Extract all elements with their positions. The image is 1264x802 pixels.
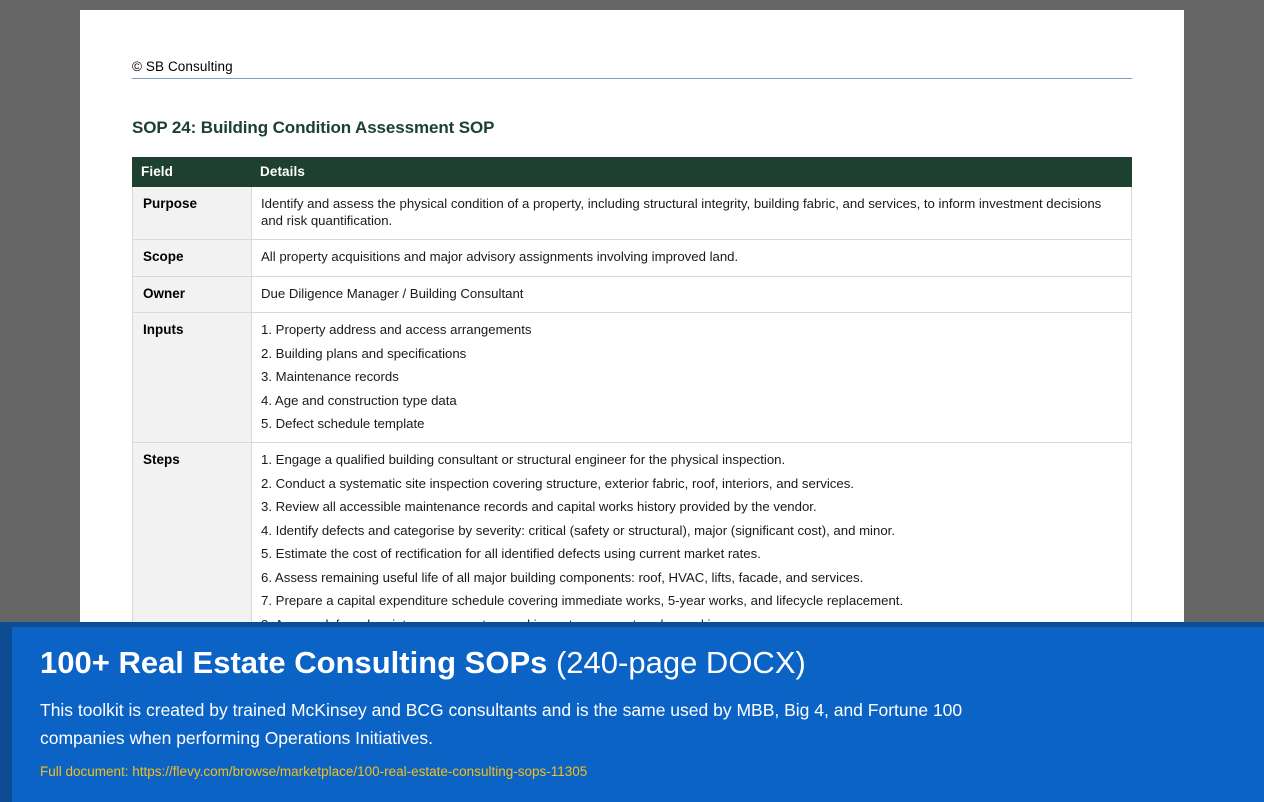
row-details-cell: 1. Property address and access arrangeme…	[252, 313, 1132, 443]
list-item: 4. Age and construction type data	[261, 393, 1123, 409]
detail-paragraph: Due Diligence Manager / Building Consult…	[261, 286, 1123, 303]
table-row: PurposeIdentify and assess the physical …	[133, 187, 1132, 240]
table-header: Field Details	[133, 158, 1132, 187]
list-item: 2. Building plans and specifications	[261, 346, 1123, 362]
row-details-cell: All property acquisitions and major advi…	[252, 240, 1132, 277]
page-title: SOP 24: Building Condition Assessment SO…	[132, 118, 1132, 138]
column-header-field: Field	[133, 158, 252, 187]
column-header-details: Details	[252, 158, 1132, 187]
list-item: 7. Prepare a capital expenditure schedul…	[261, 593, 1123, 609]
list-item: 3. Maintenance records	[261, 369, 1123, 385]
promo-title-format: (240-page DOCX)	[547, 645, 805, 680]
detail-list: 1. Engage a qualified building consultan…	[261, 452, 1123, 633]
promo-document-link[interactable]: Full document: https://flevy.com/browse/…	[40, 763, 1014, 780]
row-details-cell: Due Diligence Manager / Building Consult…	[252, 276, 1132, 313]
promo-title: 100+ Real Estate Consulting SOPs (240-pa…	[40, 644, 1014, 682]
promo-banner: 100+ Real Estate Consulting SOPs (240-pa…	[0, 622, 1264, 802]
running-header: © SB Consulting	[132, 58, 1132, 79]
list-item: 6. Assess remaining useful life of all m…	[261, 570, 1123, 586]
promo-content: 100+ Real Estate Consulting SOPs (240-pa…	[40, 644, 1014, 780]
list-item: 2. Conduct a systematic site inspection …	[261, 476, 1123, 492]
detail-paragraph: All property acquisitions and major advi…	[261, 249, 1123, 266]
row-details-cell: Identify and assess the physical conditi…	[252, 187, 1132, 240]
row-details-cell: 1. Engage a qualified building consultan…	[252, 443, 1132, 644]
row-field-label: Steps	[133, 443, 252, 644]
table-row: Steps1. Engage a qualified building cons…	[133, 443, 1132, 644]
table-row: Inputs1. Property address and access arr…	[133, 313, 1132, 443]
row-field-label: Purpose	[133, 187, 252, 240]
table-row: OwnerDue Diligence Manager / Building Co…	[133, 276, 1132, 313]
promo-title-main: 100+ Real Estate Consulting SOPs	[40, 645, 547, 680]
banner-left-accent	[0, 627, 12, 802]
row-field-label: Scope	[133, 240, 252, 277]
list-item: 1. Engage a qualified building consultan…	[261, 452, 1123, 468]
list-item: 4. Identify defects and categorise by se…	[261, 523, 1123, 539]
page-content: © SB Consulting SOP 24: Building Conditi…	[132, 58, 1132, 644]
list-item: 3. Review all accessible maintenance rec…	[261, 499, 1123, 515]
table-row: ScopeAll property acquisitions and major…	[133, 240, 1132, 277]
promo-description: This toolkit is created by trained McKin…	[40, 696, 1014, 752]
list-item: 5. Estimate the cost of rectification fo…	[261, 546, 1123, 562]
list-item: 5. Defect schedule template	[261, 416, 1123, 432]
table-body: PurposeIdentify and assess the physical …	[133, 187, 1132, 644]
sop-details-table: Field Details PurposeIdentify and assess…	[132, 157, 1132, 644]
detail-paragraph: Identify and assess the physical conditi…	[261, 196, 1123, 229]
detail-list: 1. Property address and access arrangeme…	[261, 322, 1123, 432]
table-header-row: Field Details	[133, 158, 1132, 187]
row-field-label: Inputs	[133, 313, 252, 443]
row-field-label: Owner	[133, 276, 252, 313]
copyright-text: © SB Consulting	[132, 58, 1132, 75]
list-item: 1. Property address and access arrangeme…	[261, 322, 1123, 338]
